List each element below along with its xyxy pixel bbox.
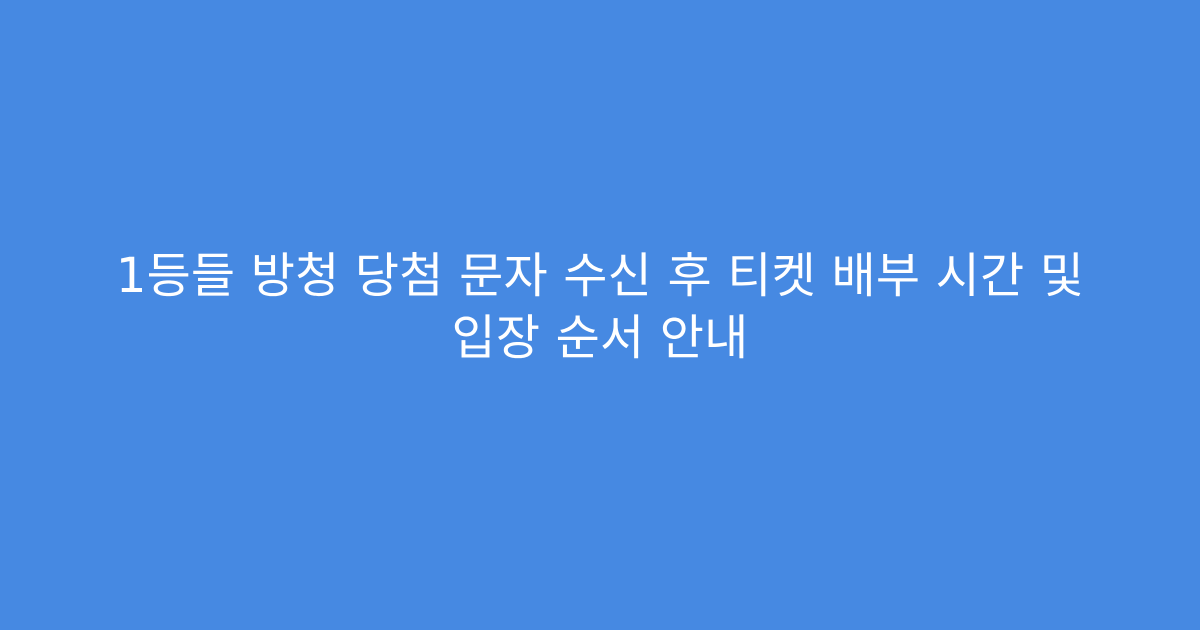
headline-block: 1등들 방청 당첨 문자 수신 후 티켓 배부 시간 및 입장 순서 안내 xyxy=(80,245,1120,369)
share-card: 1등들 방청 당첨 문자 수신 후 티켓 배부 시간 및 입장 순서 안내 xyxy=(0,0,1200,630)
page-title: 1등들 방청 당첨 문자 수신 후 티켓 배부 시간 및 입장 순서 안내 xyxy=(80,245,1120,369)
